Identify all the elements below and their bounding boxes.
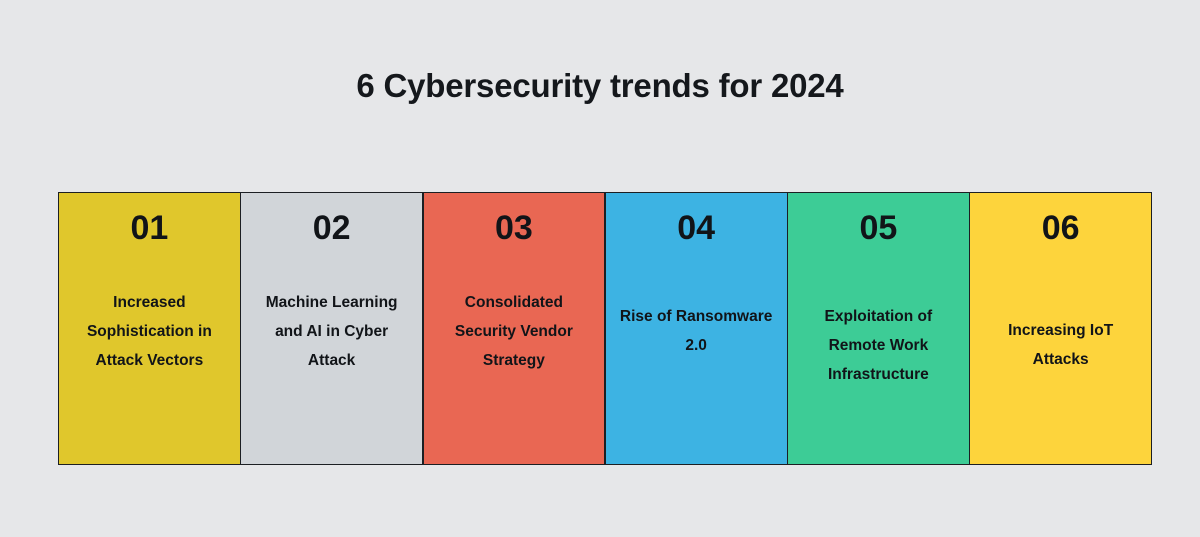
trend-number-02: 02: [313, 209, 351, 248]
trend-number-03: 03: [495, 209, 533, 248]
trend-label-02: Machine Learning and AI in Cyber Attack: [241, 289, 422, 376]
trend-column-01: 01 Increased Sophistication in Attack Ve…: [59, 193, 240, 464]
trend-column-04: 04 Rise of Ransomware 2.0: [606, 193, 787, 464]
trend-label-03: Consolidated Security Vendor Strategy: [424, 289, 605, 376]
trend-number-05: 05: [859, 209, 897, 248]
trend-number-06: 06: [1042, 209, 1080, 248]
trend-label-01: Increased Sophistication in Attack Vecto…: [59, 289, 240, 376]
trends-board: 01 Increased Sophistication in Attack Ve…: [58, 192, 1152, 465]
trend-number-04: 04: [677, 209, 715, 248]
trend-column-06: 06 Increasing IoT Attacks: [970, 193, 1151, 464]
trend-number-01: 01: [130, 209, 168, 248]
infographic-page: 6 Cybersecurity trends for 2024 01 Incre…: [0, 0, 1200, 537]
page-title: 6 Cybersecurity trends for 2024: [0, 66, 1200, 106]
trend-column-03: 03 Consolidated Security Vendor Strategy: [424, 193, 605, 464]
trend-label-05: Exploitation of Remote Work Infrastructu…: [788, 303, 969, 390]
trend-column-02: 02 Machine Learning and AI in Cyber Atta…: [241, 193, 422, 464]
trend-label-06: Increasing IoT Attacks: [970, 317, 1151, 375]
trend-column-05: 05 Exploitation of Remote Work Infrastru…: [788, 193, 969, 464]
trend-label-04: Rise of Ransomware 2.0: [606, 303, 787, 361]
